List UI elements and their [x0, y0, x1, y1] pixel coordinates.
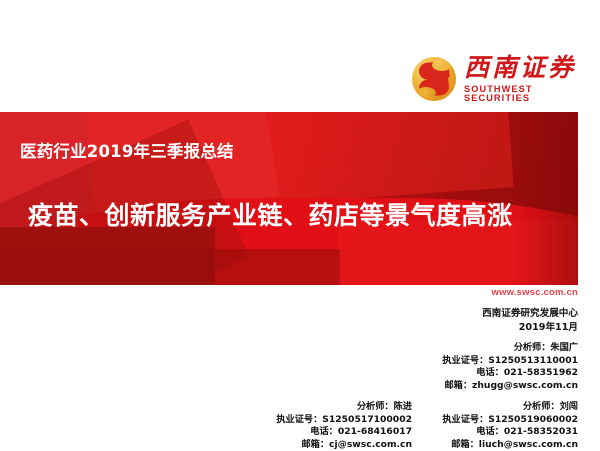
analyst-name: 分析师：陈进	[276, 401, 412, 414]
analyst-name: 分析师：刘闯	[442, 401, 578, 414]
analyst-phone: 电话：021-58351962	[442, 367, 578, 380]
analyst-email[interactable]: 邮箱：liuch@swsc.com.cn	[442, 439, 578, 451]
logo-chinese-name: 西南证券	[464, 55, 588, 80]
analyst-block-secondary-right: 分析师：刘闯 执业证号：S1250519060002 电话：021-583520…	[442, 401, 578, 451]
analyst-phone: 电话：021-58352031	[442, 426, 578, 439]
banner-facet-bottom-left-dark	[0, 227, 215, 285]
analyst-block-primary: 分析师：朱国广 执业证号：S1250513110001 电话：021-58351…	[442, 342, 578, 392]
logo-english-name: SOUTHWEST SECURITIES	[464, 85, 588, 103]
company-logo: 西南证券 SOUTHWEST SECURITIES	[412, 52, 588, 106]
analyst-block-secondary-left: 分析师：陈进 执业证号：S1250517100002 电话：021-684160…	[276, 401, 412, 451]
report-subtitle: 医药行业2019年三季报总结	[20, 138, 234, 162]
analyst-license: 执业证号：S1250519060002	[442, 414, 578, 427]
banner-facet-bottom-left-dark-2	[0, 249, 340, 285]
report-date: 2019年11月	[482, 321, 578, 335]
website-url[interactable]: www.swsc.com.cn	[491, 287, 578, 298]
analyst-phone: 电话：021-68416017	[276, 426, 412, 439]
analyst-email[interactable]: 邮箱：cj@swsc.com.cn	[276, 439, 412, 451]
report-title: 疫苗、创新服务产业链、药店等景气度高涨	[28, 196, 513, 232]
logo-core-stem	[427, 69, 441, 88]
swsc-circular-s-logo-icon	[412, 57, 456, 101]
organization-block: 西南证券研究发展中心 2019年11月	[482, 307, 578, 335]
logo-wordmark: 西南证券 SOUTHWEST SECURITIES	[464, 55, 588, 103]
analyst-license: 执业证号：S1250513110001	[442, 355, 578, 368]
analyst-name: 分析师：朱国广	[442, 342, 578, 355]
analyst-email[interactable]: 邮箱：zhugg@swsc.com.cn	[442, 380, 578, 393]
organization-name: 西南证券研究发展中心	[482, 307, 578, 321]
banner-facet-right-edge	[514, 112, 578, 285]
logo-cut-bottom	[416, 87, 436, 99]
report-cover-page: 西南证券 SOUTHWEST SECURITIES 医药行业2019年三季报总结…	[0, 0, 600, 450]
analyst-license: 执业证号：S1250517100002	[276, 414, 412, 427]
